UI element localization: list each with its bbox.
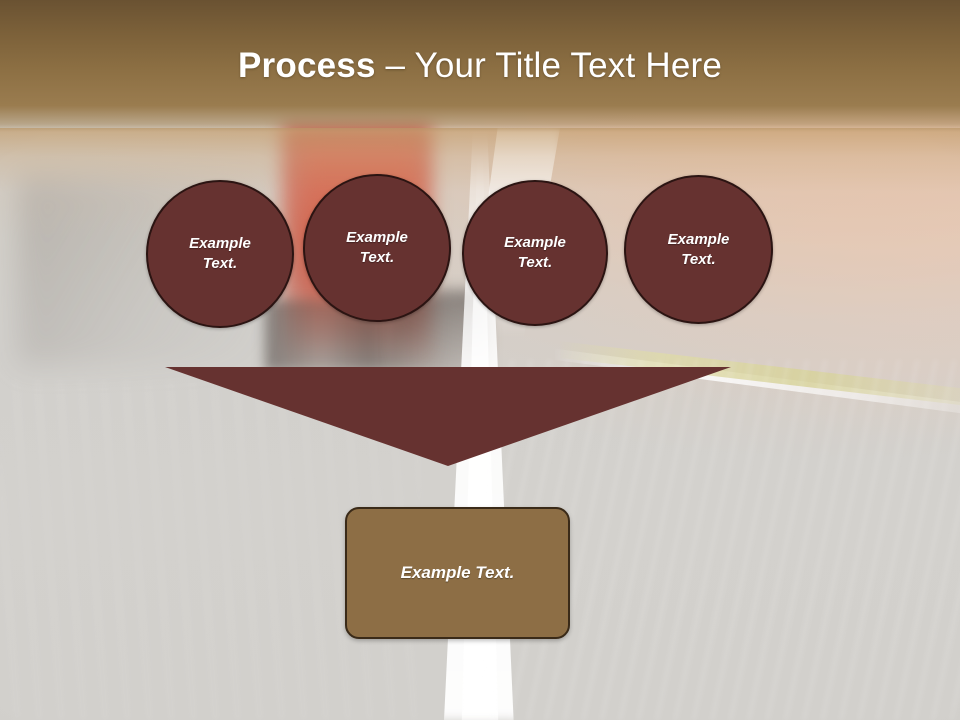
page-title-light: Your Title Text Here xyxy=(415,46,723,85)
page-title-bold: Process xyxy=(238,46,376,85)
presentation-slide: Process – Your Title Text Here Example T… xyxy=(0,0,960,720)
process-step-label-4: Example Text. xyxy=(668,230,730,270)
process-step-circle-3[interactable]: Example Text. xyxy=(462,180,608,326)
process-result-label: Example Text. xyxy=(401,562,515,584)
process-step-circle-1[interactable]: Example Text. xyxy=(146,180,294,328)
process-step-label-2: Example Text. xyxy=(346,228,408,268)
process-step-label-3: Example Text. xyxy=(504,233,566,273)
process-step-label-1: Example Text. xyxy=(189,234,251,274)
process-step-circle-4[interactable]: Example Text. xyxy=(624,175,773,324)
page-title: Process – Your Title Text Here xyxy=(0,44,960,88)
process-result-box[interactable]: Example Text. xyxy=(345,507,570,639)
process-step-circle-2[interactable]: Example Text. xyxy=(303,174,451,322)
page-title-separator: – xyxy=(376,46,415,85)
